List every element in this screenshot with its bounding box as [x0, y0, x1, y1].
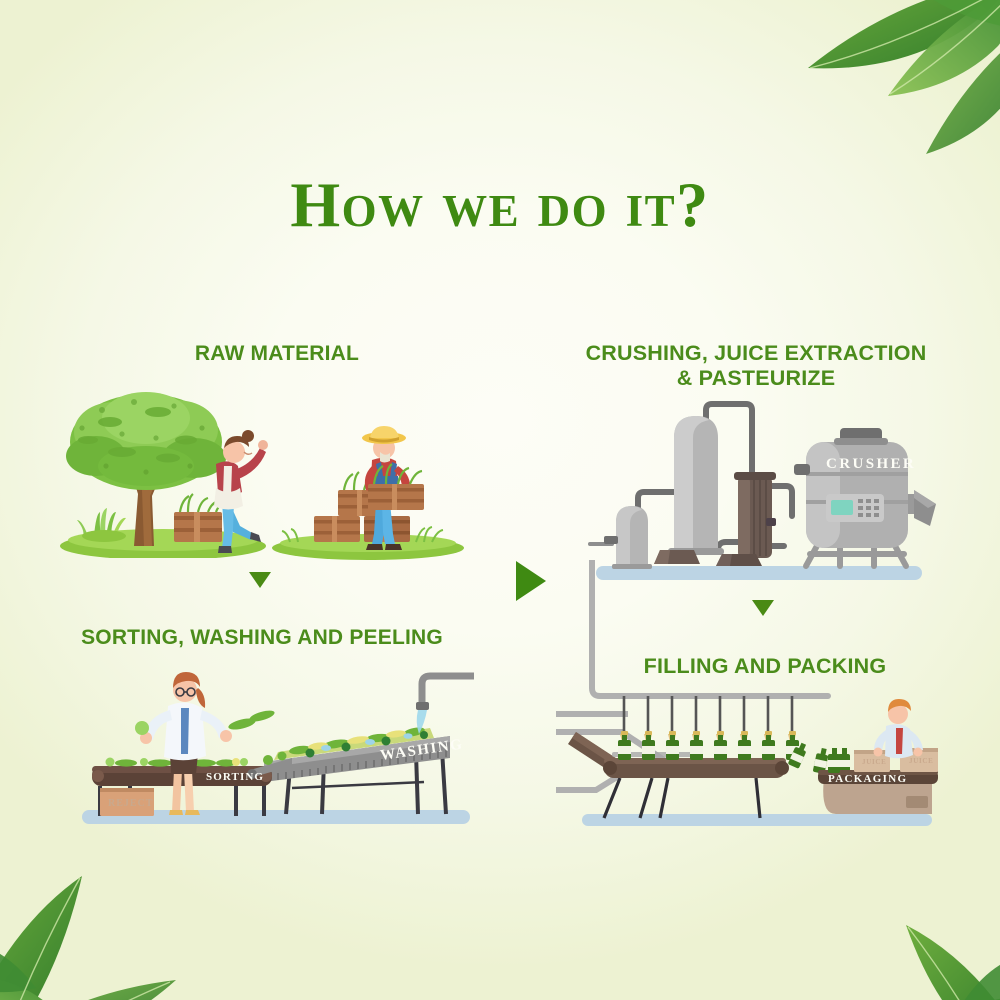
label-sorting-belt: SORTING [206, 771, 264, 783]
step-label-sorting-washing: SORTING, WASHING AND PEELING [52, 626, 472, 651]
step-label-crushing: CRUSHING, JUICE EXTRACTION & PASTEURIZE [570, 341, 942, 392]
label-crusher: CRUSHER [826, 456, 916, 472]
infographic-canvas: How we do it? RAW MATERIAL SORTING, WASH… [0, 0, 1000, 1000]
label-carton-1: JUICE [862, 758, 887, 766]
step-label-raw-material: RAW MATERIAL [150, 342, 404, 367]
illustration-tree-harvest [58, 378, 278, 558]
farmer-crates-svg [268, 420, 468, 560]
arrow-down-icon-raw-to-sorting [249, 572, 271, 588]
label-packaging-table: PACKAGING [828, 773, 907, 785]
filling-packing-svg: PACKAGING JUICE JUICE [556, 696, 942, 842]
label-reject-box: REJECT [108, 798, 153, 809]
neem-leaf-cluster-top-right-icon [750, 0, 1000, 176]
label-carton-2: JUICE [909, 757, 934, 765]
illustration-farmer-crates [268, 420, 468, 560]
tree-harvest-svg [58, 378, 278, 558]
sorting-washing-svg: SORTING WASHING REJECT [78, 658, 474, 838]
arrow-right-icon-left-to-right [516, 561, 546, 601]
pipe-crusher-to-filling [578, 560, 942, 710]
neem-leaf-cluster-bottom-right-icon [790, 865, 1000, 1000]
page-title: How we do it? [0, 168, 1000, 242]
illustration-sorting-washing: SORTING WASHING REJECT [78, 658, 474, 838]
illustration-filling-packing: PACKAGING JUICE JUICE [556, 696, 942, 842]
neem-leaf-cluster-bottom-left-icon [0, 830, 230, 1000]
